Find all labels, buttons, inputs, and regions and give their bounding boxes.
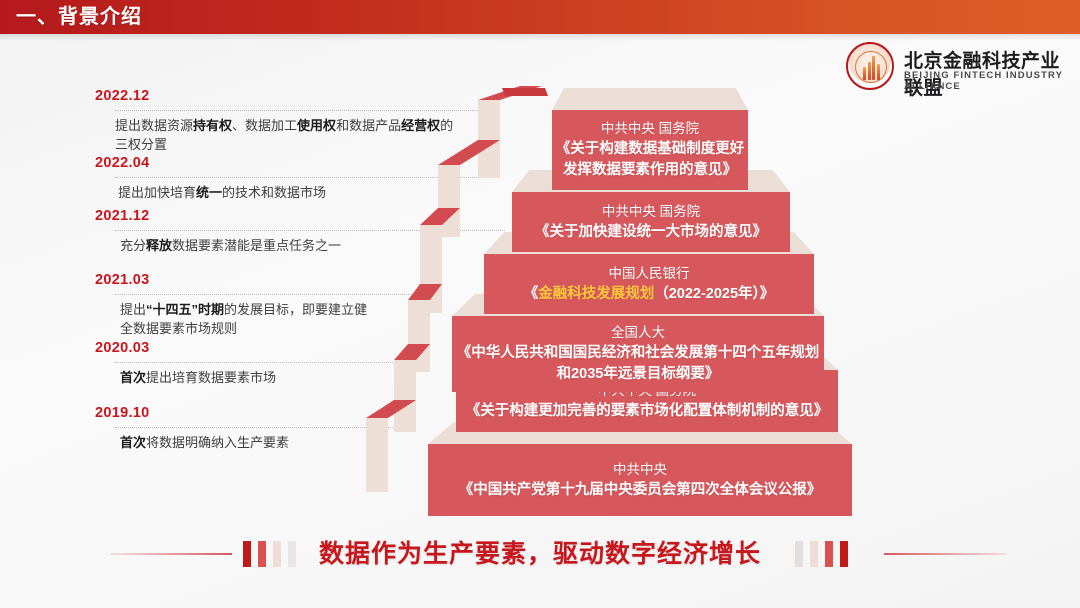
- step-document-title: 《关于构建更加完善的要素市场化配置体制机制的意见》: [466, 401, 829, 422]
- step-issuing-org: 全国人大: [611, 323, 665, 343]
- step-document-title: 《金融科技发展规划（2022-2025年）》: [524, 284, 775, 305]
- step-face: 中共中央 国务院《关于加快建设统一大市场的意见》: [512, 192, 790, 252]
- step-face: 中共中央 国务院《关于构建数据基础制度更好发挥数据要素作用的意见》: [552, 110, 748, 190]
- stair-top-cap: [502, 88, 548, 96]
- caption-text: 数据作为生产要素，驱动数字经济增长: [0, 534, 1080, 570]
- step-title-highlight: 金融科技发展规划: [538, 286, 654, 302]
- step-issuing-org: 中国人民银行: [609, 264, 690, 284]
- step-face: 中共中央《中国共产党第十九届中央委员会第四次全体会议公报》: [428, 444, 852, 516]
- step-document-title: 《关于加快建设统一大市场的意见》: [535, 222, 767, 243]
- policy-step-1: 中共中央 国务院《关于构建数据基础制度更好发挥数据要素作用的意见》: [552, 88, 748, 190]
- step-face: 中国人民银行《金融科技发展规划（2022-2025年）》: [484, 254, 814, 314]
- step-document-title: 《中华人民共和国国民经济和社会发展第十四个五年规划和2035年远景目标纲要》: [452, 343, 824, 385]
- step-issuing-org: 中共中央 国务院: [602, 202, 700, 222]
- policy-step-6: 中共中央《中国共产党第十九届中央委员会第四次全体会议公报》: [428, 422, 852, 516]
- step-top-surface: [552, 88, 748, 110]
- footer-caption: 数据作为生产要素，驱动数字经济增长: [0, 528, 1080, 580]
- step-issuing-org: 中共中央: [613, 460, 667, 480]
- step-document-title: 《中国共产党第十九届中央委员会第四次全体会议公报》: [459, 480, 822, 501]
- step-document-title: 《关于构建数据基础制度更好发挥数据要素作用的意见》: [552, 139, 748, 181]
- step-face: 全国人大《中华人民共和国国民经济和社会发展第十四个五年规划和2035年远景目标纲…: [452, 316, 824, 392]
- step-issuing-org: 中共中央 国务院: [601, 119, 699, 139]
